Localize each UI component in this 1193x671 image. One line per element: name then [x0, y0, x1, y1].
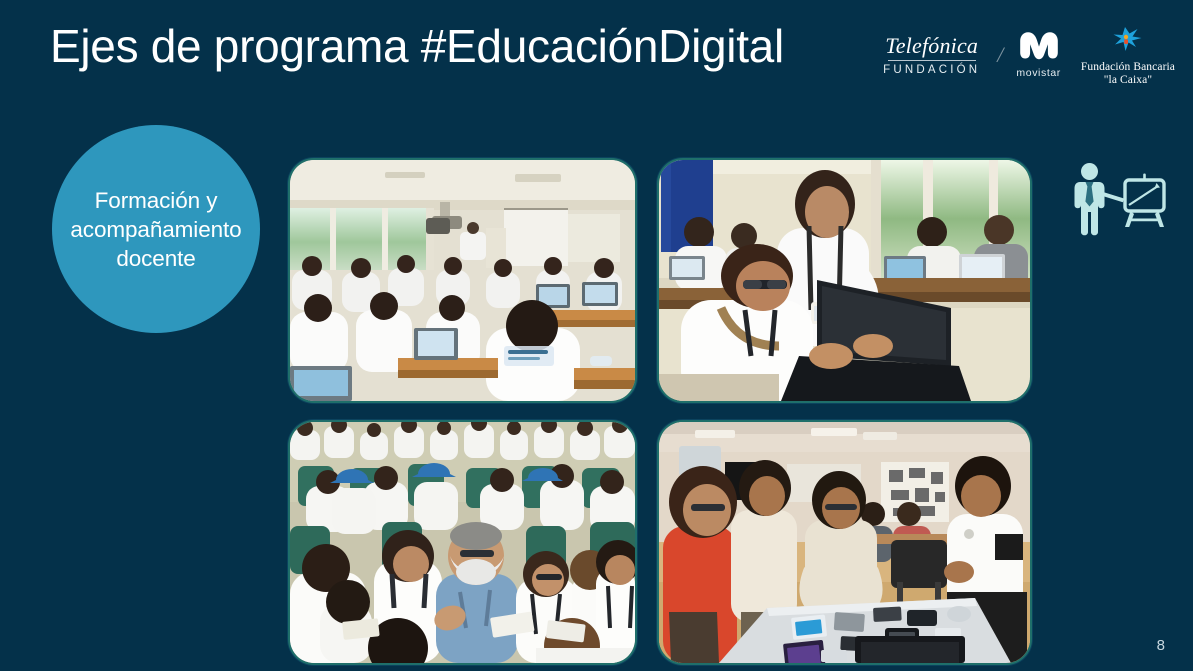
- lacaixa-foundation-logo: Fundación Bancaria "la Caixa": [1065, 24, 1183, 86]
- telefonica-subtitle: FUNDACIÓN: [883, 64, 980, 77]
- telefonica-wordmark: Telefónica: [885, 34, 978, 58]
- teacher-at-board-icon: [1068, 160, 1168, 240]
- logo-divider-rule: [888, 60, 976, 61]
- telefonica-foundation-logo: Telefónica FUNDACIÓN: [877, 34, 986, 77]
- gallery-photo-2: [657, 158, 1032, 403]
- movistar-m-logo: [1019, 31, 1059, 66]
- program-axis-label: Formación y acompañamiento docente: [52, 186, 260, 273]
- gallery-photo-4: [657, 420, 1032, 665]
- lacaixa-line-2: "la Caixa": [1081, 74, 1175, 87]
- gallery-photo-3: [288, 420, 637, 665]
- lacaixa-line-1: Fundación Bancaria: [1081, 61, 1175, 73]
- program-axis-circle: Formación y acompañamiento docente: [52, 125, 260, 333]
- page-title: Ejes de programa #EducaciónDigital: [50, 19, 784, 73]
- logo-separator: /: [986, 42, 1012, 68]
- slide-canvas: Ejes de programa #EducaciónDigital Telef…: [0, 0, 1193, 671]
- movistar-logo: movistar: [1012, 31, 1064, 79]
- lacaixa-text: Fundación Bancaria "la Caixa": [1081, 61, 1175, 86]
- la-caixa-star-logo: [1111, 24, 1145, 59]
- movistar-subtitle: movistar: [1016, 67, 1060, 79]
- gallery-photo-1: [288, 158, 637, 403]
- page-number: 8: [1157, 637, 1165, 655]
- logo-bar: Telefónica FUNDACIÓN / movistar: [877, 24, 1183, 86]
